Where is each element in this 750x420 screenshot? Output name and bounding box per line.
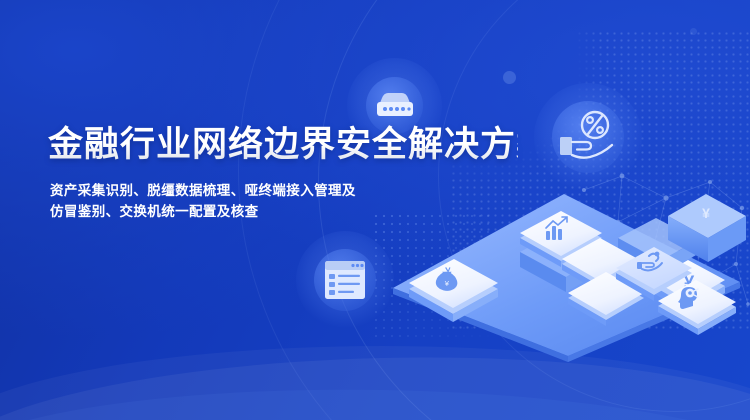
- decor-dot-tiny: [690, 28, 697, 35]
- switch-icon: [373, 89, 417, 123]
- hand-percent-icon: [557, 110, 619, 164]
- subtitle-line-2: 仿冒鉴别、交换机统一配置及核查: [50, 201, 518, 222]
- checklist-window-icon: [324, 260, 366, 300]
- subtitle-block: 资产采集识别、脱缰数据梳理、哑终端接入管理及 仿冒鉴别、交换机统一配置及核查: [50, 180, 518, 222]
- banner-text-block: 金融行业网络边界安全解决方案 资产采集识别、脱缰数据梳理、哑终端接入管理及 仿冒…: [48, 122, 518, 222]
- banner-root: ¥: [0, 0, 750, 420]
- page-title: 金融行业网络边界安全解决方案: [48, 122, 518, 168]
- svg-text:¥: ¥: [445, 279, 450, 288]
- decor-dot-small: [503, 71, 516, 84]
- subtitle-line-1: 资产采集识别、脱缰数据梳理、哑终端接入管理及: [50, 180, 518, 201]
- bottom-wave-c: [0, 382, 750, 420]
- yen-cube-icon: ¥: [702, 205, 710, 221]
